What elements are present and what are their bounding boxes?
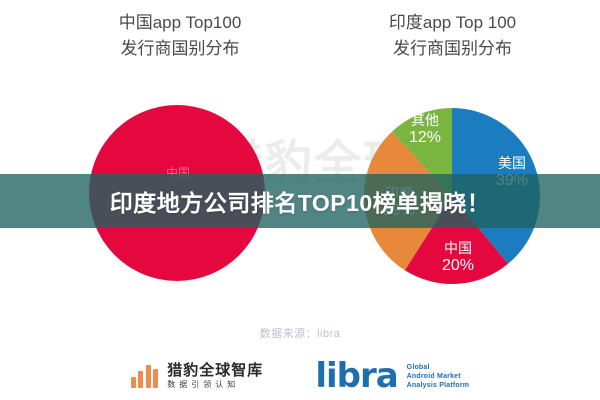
cheetah-logo-text: 猎豹全球智库 数据引领认知 [167,362,263,391]
libra-tagline-line3: Analysis Platform [407,381,470,390]
libra-logo: libra Global Android Market Analysis Pla… [315,361,469,391]
cheetah-logo: 猎豹全球智库 数据引领认知 [131,362,264,391]
cheetah-bar-chart-icon [131,365,159,388]
headline-banner-text: 印度地方公司排名TOP10榜单揭晓！ [110,184,490,218]
cheetah-logo-name: 猎豹全球智库 [167,362,263,379]
left-chart-title-line2: 发行商国别分布 [80,36,280,62]
libra-wordmark: libra [315,361,397,391]
right-chart-title-line1: 印度app Top 100 [389,13,516,32]
infographic-canvas: 猎豹全球智库 中国app Top100 发行商国别分布 印度app Top 10… [0,0,600,400]
left-chart-title: 中国app Top100 发行商国别分布 [80,10,280,62]
right-chart-title-line2: 发行商国别分布 [350,36,555,62]
source-note: 数据来源：libra [200,325,400,341]
libra-tagline: Global Android Market Analysis Platform [407,363,470,390]
libra-tagline-line2: Android Market [407,372,470,381]
left-chart-title-line1: 中国app Top100 [119,13,242,32]
headline-banner: 印度地方公司排名TOP10榜单揭晓！ [0,174,600,228]
cheetah-logo-slogan: 数据引领认知 [167,379,263,391]
libra-tagline-line1: Global [407,363,470,372]
footer-logos: 猎豹全球智库 数据引领认知 libra Global Android Marke… [0,352,600,400]
right-chart-title: 印度app Top 100 发行商国别分布 [350,10,555,62]
